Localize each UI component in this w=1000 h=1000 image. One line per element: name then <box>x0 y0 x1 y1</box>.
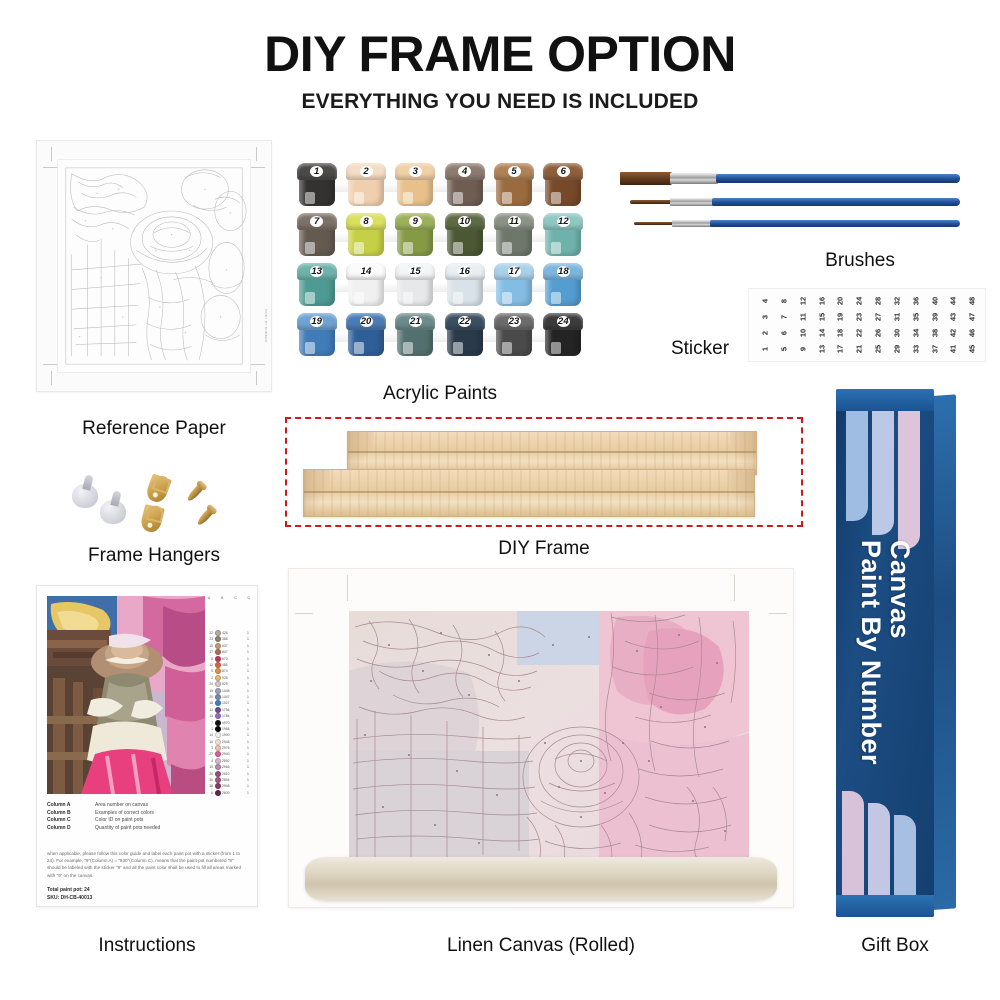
legend-area-number: 2 <box>207 676 213 680</box>
legend-quantity: 1 <box>247 644 251 648</box>
legend-quantity: 1 <box>247 637 251 641</box>
legend-color-swatch <box>215 739 221 745</box>
legend-color-code: 847 <box>222 650 246 654</box>
page-title: DIY FRAME OPTION <box>0 25 1000 83</box>
sticker-number: 9 <box>794 340 810 359</box>
legend-color-swatch <box>215 688 221 694</box>
legend-color-swatch <box>215 713 221 719</box>
instruction-footer: Total paint pot: 24 SKU: DH-CB-40013 <box>47 886 247 902</box>
legend-area-number: 1 <box>207 727 213 731</box>
legend-color-code: 670 <box>222 657 246 661</box>
legend-color-swatch <box>215 662 221 668</box>
gift-box-face: Canvas Paint By Number <box>836 389 934 917</box>
legend-color-code: 2892 <box>222 759 246 763</box>
paint-pot-number: 19 <box>297 313 337 329</box>
legend-color-swatch <box>215 777 221 783</box>
sticker-number: 45 <box>964 340 980 359</box>
legend-area-number: 14 <box>207 733 213 737</box>
paint-pot-19: 19 <box>297 313 337 357</box>
legend-quantity: 1 <box>247 778 251 782</box>
plastic-hook-2 <box>100 500 126 524</box>
sticker-number: 41 <box>945 340 961 359</box>
sticker-number: 25 <box>869 340 885 359</box>
page-subtitle: EVERYTHING YOU NEED IS INCLUDED <box>0 90 1000 114</box>
caption-frame-hangers: Frame Hangers <box>36 545 272 567</box>
legend-quantity: 1 <box>247 772 251 776</box>
acrylic-paints-image: 123456789101112131415161718192021222324 <box>292 163 588 363</box>
legend-color-swatch <box>215 675 221 681</box>
legend-area-number: 23 <box>207 637 213 641</box>
legend-area-number: 18 <box>207 701 213 705</box>
paint-pot-18: 18 <box>543 263 583 307</box>
legend-area-number: 13 <box>207 714 213 718</box>
legend-color-swatch <box>215 790 221 796</box>
legend-color-code: 2940 <box>222 752 246 756</box>
gift-box-title: Canvas Paint By Number <box>836 389 934 917</box>
legend-color-code: 874 <box>222 669 246 673</box>
legend-quantity: 1 <box>247 708 251 712</box>
legend-color-swatch <box>215 783 221 789</box>
legend-area-number: 19 <box>207 689 213 693</box>
paint-pot-23: 23 <box>494 313 534 357</box>
screw-2 <box>196 506 215 526</box>
legend-area-number: 24 <box>207 682 213 686</box>
legend-area-number: 11 <box>207 708 213 712</box>
paint-pot-10: 10 <box>445 213 485 257</box>
legend-color-code: 426 <box>222 631 246 635</box>
legend-area-number: 16 <box>207 740 213 744</box>
paint-pot-17: 17 <box>494 263 534 307</box>
legend-rows: 2242612338811563711784718670112485158741… <box>207 630 251 796</box>
legend-area-number: 22 <box>207 631 213 635</box>
instruction-columns: Column AArea number on canvasColumn BExa… <box>47 802 247 832</box>
legend-header: D <box>248 596 250 600</box>
paint-pot-number: 22 <box>445 313 485 329</box>
paint-pot-number: 8 <box>346 213 386 229</box>
legend-color-swatch <box>215 668 221 674</box>
canvas-line-art <box>349 611 749 865</box>
caption-reference-paper: Reference Paper <box>36 418 272 440</box>
legend-color-code: 2600 <box>222 791 246 795</box>
paint-pot-number: 23 <box>494 313 534 329</box>
legend-quantity: 1 <box>247 701 251 705</box>
screw-1 <box>186 482 205 502</box>
legend-area-number: 27 <box>207 752 213 756</box>
plastic-hook-1 <box>72 484 98 508</box>
legend-color-code: 485 <box>222 663 246 667</box>
legend-area-number: 3 <box>207 746 213 750</box>
paint-pot-24: 24 <box>543 313 583 357</box>
color-legend: ABCD 22426123388115637117847186701124851… <box>207 596 251 796</box>
instruction-column-value: Quantity of paint pots needed <box>95 825 160 833</box>
legend-color-code: 2966 <box>222 765 246 769</box>
legend-color-swatch <box>215 649 221 655</box>
instruction-column-key: Column A <box>47 802 89 810</box>
paint-pot-rail <box>300 233 580 242</box>
paint-pot-number: 16 <box>445 263 485 279</box>
caption-brushes: Brushes <box>760 250 960 272</box>
paint-pot-2: 2 <box>346 163 386 207</box>
legend-area-number: 15 <box>207 644 213 648</box>
legend-color-code: 2976 <box>222 746 246 750</box>
paint-pot-21: 21 <box>395 313 435 357</box>
legend-header: C <box>234 596 236 600</box>
instructions-preview-art <box>47 596 205 794</box>
legend-quantity: 1 <box>247 752 251 756</box>
caption-linen-canvas: Linen Canvas (Rolled) <box>288 935 794 957</box>
legend-color-code: 1900 <box>222 733 246 737</box>
legend-quantity: 1 <box>247 765 251 769</box>
legend-quantity: 1 <box>247 650 251 654</box>
round-brush <box>620 198 960 207</box>
legend-color-swatch <box>215 707 221 713</box>
instruction-column-key: Column D <box>47 825 89 833</box>
paint-pot-rail <box>300 283 580 292</box>
legend-area-number: 6 <box>207 791 213 795</box>
legend-color-code: 637 <box>222 644 246 648</box>
sku-label: SKU: <box>47 895 59 901</box>
legend-color-swatch <box>215 643 221 649</box>
paint-pot-number: 1 <box>297 163 337 179</box>
legend-header: B <box>221 596 223 600</box>
legend-quantity: 1 <box>247 791 251 795</box>
paint-pot-15: 15 <box>395 263 435 307</box>
instruction-column-value: Examples of correct colors <box>95 810 154 818</box>
paint-pot-row: 131415161718 <box>292 263 588 313</box>
legend-color-swatch <box>215 771 221 777</box>
paint-pot-number: 21 <box>395 313 435 329</box>
legend-area-number: 12 <box>207 663 213 667</box>
instruction-column-key: Column B <box>47 810 89 818</box>
reference-paper-image: PAINT BY NUMBER <box>36 140 272 392</box>
legend-area-number: 7 <box>207 721 213 725</box>
legend-color-code: 2610 <box>222 772 246 776</box>
paint-pot-row: 123456 <box>292 163 588 213</box>
frame-bar-bottom <box>303 469 755 517</box>
legend-area-number: 8 <box>207 657 213 661</box>
reference-line-art <box>57 159 251 373</box>
paint-pot-3: 3 <box>395 163 435 207</box>
gift-box-image: Canvas Paint By Number <box>836 389 956 917</box>
paint-pot-5: 5 <box>494 163 534 207</box>
legend-color-swatch <box>215 720 221 726</box>
paint-pot-6: 6 <box>543 163 583 207</box>
paint-pot-number: 20 <box>346 313 386 329</box>
caption-gift-box: Gift Box <box>820 935 970 957</box>
legend-color-code: 388 <box>222 637 246 641</box>
instruction-column-row: Column DQuantity of paint pots needed <box>47 825 247 833</box>
paint-pot-number: 14 <box>346 263 386 279</box>
legend-area-number: 30 <box>207 778 213 782</box>
paint-pot-row: 789101112 <box>292 213 588 263</box>
legend-quantity: 1 <box>247 676 251 680</box>
legend-quantity: 1 <box>247 727 251 731</box>
reference-side-code: PAINT BY NUMBER <box>264 309 268 342</box>
paint-pot-number: 17 <box>494 263 534 279</box>
legend-color-swatch <box>215 764 221 770</box>
paint-pot-14: 14 <box>346 263 386 307</box>
legend-color-code: 1968 <box>222 727 246 731</box>
paint-pot-rail <box>300 333 580 342</box>
paint-pot-22: 22 <box>445 313 485 357</box>
legend-area-number: 26 <box>207 772 213 776</box>
legend-color-code: 1756 <box>222 708 246 712</box>
flat-brush <box>620 174 960 183</box>
legend-area-number: 10 <box>207 765 213 769</box>
legend-header: A <box>208 596 210 600</box>
brushes-image <box>620 170 960 240</box>
d-ring-hanger-1 <box>144 473 172 504</box>
legend-headers: ABCD <box>207 596 251 600</box>
sticker-number: 13 <box>813 340 829 359</box>
legend-color-code: 2948 <box>222 740 246 744</box>
legend-color-code: 2948 <box>222 784 246 788</box>
paint-pot-number: 10 <box>445 213 485 229</box>
paint-pot-number: 9 <box>395 213 435 229</box>
legend-quantity: 1 <box>247 689 251 693</box>
caption-diy-frame: DIY Frame <box>285 538 803 560</box>
legend-color-code: 1048 <box>222 689 246 693</box>
legend-quantity: 1 <box>247 733 251 737</box>
sku-value: DH-CB-40013 <box>61 895 93 901</box>
paint-pot-11: 11 <box>494 213 534 257</box>
legend-color-code: u970 <box>222 721 246 725</box>
instruction-column-row: Column AArea number on canvas <box>47 802 247 810</box>
paint-pot-number: 6 <box>543 163 583 179</box>
instruction-column-value: Color ID on paint pots <box>95 817 143 825</box>
legend-quantity: 1 <box>247 721 251 725</box>
canvas-rolled-edge <box>305 857 777 901</box>
legend-area-number: 38 <box>207 784 213 788</box>
legend-color-code: 926 <box>222 676 246 680</box>
paint-pot-1: 1 <box>297 163 337 207</box>
sticker-number-grid: 4812162024283236404448371115192327313539… <box>755 293 981 357</box>
paint-pot-number: 7 <box>297 213 337 229</box>
instruction-column-row: Column BExamples of correct colors <box>47 810 247 818</box>
paint-pot-16: 16 <box>445 263 485 307</box>
legend-quantity: 1 <box>247 695 251 699</box>
legend-area-number: 4 <box>207 759 213 763</box>
legend-color-swatch <box>215 732 221 738</box>
legend-color-swatch <box>215 694 221 700</box>
paint-pot-number: 11 <box>494 213 534 229</box>
legend-color-code: 1784 <box>222 714 246 718</box>
sticker-number: 5 <box>775 340 791 359</box>
legend-color-swatch <box>215 656 221 662</box>
paint-pot-12: 12 <box>543 213 583 257</box>
legend-color-swatch <box>215 700 221 706</box>
legend-quantity: 1 <box>247 740 251 744</box>
legend-row: 626001 <box>207 790 251 796</box>
sticker-number: 33 <box>907 340 923 359</box>
legend-color-swatch <box>215 751 221 757</box>
paint-pot-8: 8 <box>346 213 386 257</box>
paint-pot-number: 5 <box>494 163 534 179</box>
caption-sticker: Sticker <box>640 338 760 360</box>
total-paint-pot-value: 24 <box>84 887 90 893</box>
legend-quantity: 1 <box>247 669 251 673</box>
legend-quantity: 1 <box>247 657 251 661</box>
paint-pot-20: 20 <box>346 313 386 357</box>
legend-color-swatch <box>215 726 221 732</box>
legend-color-swatch <box>215 681 221 687</box>
paint-pot-rail <box>300 183 580 192</box>
sticker-number: 37 <box>926 340 942 359</box>
d-ring-hanger-2 <box>139 504 165 534</box>
legend-color-swatch <box>215 758 221 764</box>
sticker-number: 21 <box>851 340 867 359</box>
legend-color-code: 1027 <box>222 701 246 705</box>
paint-pot-number: 3 <box>395 163 435 179</box>
legend-quantity: 1 <box>247 631 251 635</box>
legend-quantity: 1 <box>247 714 251 718</box>
paint-pot-row: 192021222324 <box>292 313 588 363</box>
infographic-root: DIY FRAME OPTION EVERYTHING YOU NEED IS … <box>0 0 1000 1000</box>
liner-brush <box>620 220 960 229</box>
legend-quantity: 1 <box>247 663 251 667</box>
legend-area-number: 20 <box>207 695 213 699</box>
paint-pot-number: 4 <box>445 163 485 179</box>
paint-pot-number: 12 <box>543 213 583 229</box>
gift-box-spine <box>932 394 956 910</box>
sticker-number: 29 <box>888 340 904 359</box>
total-paint-pot-label: Total paint pot: <box>47 887 83 893</box>
legend-color-swatch <box>215 636 221 642</box>
sticker-sheet-image: 4812162024283236404448371115192327313539… <box>748 288 986 362</box>
legend-quantity: 1 <box>247 682 251 686</box>
sticker-number: 17 <box>832 340 848 359</box>
instruction-column-value: Area number on canvas <box>95 802 148 810</box>
legend-quantity: 1 <box>247 784 251 788</box>
caption-instructions: Instructions <box>36 935 258 957</box>
instruction-paragraph: when applicable, please follow this colo… <box>47 850 247 879</box>
paint-pot-13: 13 <box>297 263 337 307</box>
legend-color-swatch <box>215 630 221 636</box>
paint-pot-4: 4 <box>445 163 485 207</box>
paint-pot-9: 9 <box>395 213 435 257</box>
paint-pot-number: 13 <box>297 263 337 279</box>
paint-pot-number: 18 <box>543 263 583 279</box>
instructions-card-image: ABCD 22426123388115637117847186701124851… <box>36 585 258 907</box>
linen-canvas-image <box>288 568 794 908</box>
paint-pot-number: 24 <box>543 313 583 329</box>
legend-area-number: 17 <box>207 650 213 654</box>
paint-pot-number: 15 <box>395 263 435 279</box>
legend-quantity: 1 <box>247 759 251 763</box>
diy-frame-image <box>285 417 803 527</box>
caption-acrylic-paints: Acrylic Paints <box>292 383 588 405</box>
frame-hangers-image <box>70 470 240 540</box>
instruction-column-row: Column CColor ID on paint pots <box>47 817 247 825</box>
legend-quantity: 1 <box>247 746 251 750</box>
legend-color-code: 929 <box>222 682 246 686</box>
paint-pot-7: 7 <box>297 213 337 257</box>
legend-color-code: 2894 <box>222 778 246 782</box>
legend-color-swatch <box>215 745 221 751</box>
paint-pot-number: 2 <box>346 163 386 179</box>
instruction-column-key: Column C <box>47 817 89 825</box>
legend-color-code: 1047 <box>222 695 246 699</box>
legend-area-number: 5 <box>207 669 213 673</box>
